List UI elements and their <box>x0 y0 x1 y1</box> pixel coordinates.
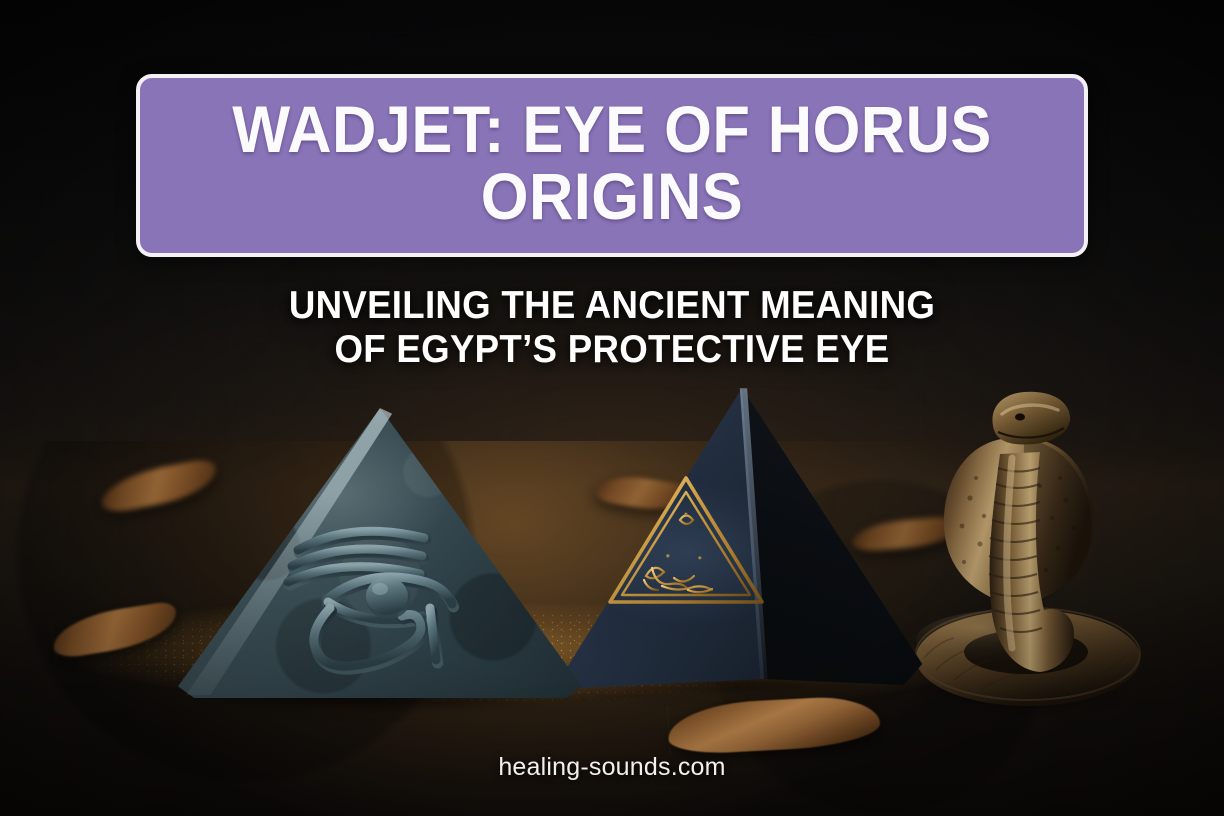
page-title: WADJET: EYE OF HORUS ORIGINS <box>201 96 1023 231</box>
title-banner: WADJET: EYE OF HORUS ORIGINS <box>136 74 1088 257</box>
subtitle: UNVEILING THE ANCIENT MEANING OF EGYPT’S… <box>37 284 1188 373</box>
text-overlay: WADJET: EYE OF HORUS ORIGINS UNVEILING T… <box>0 0 1224 816</box>
poster-canvas: WADJET: EYE OF HORUS ORIGINS UNVEILING T… <box>0 0 1224 816</box>
site-url-label: healing-sounds.com <box>0 753 1224 782</box>
